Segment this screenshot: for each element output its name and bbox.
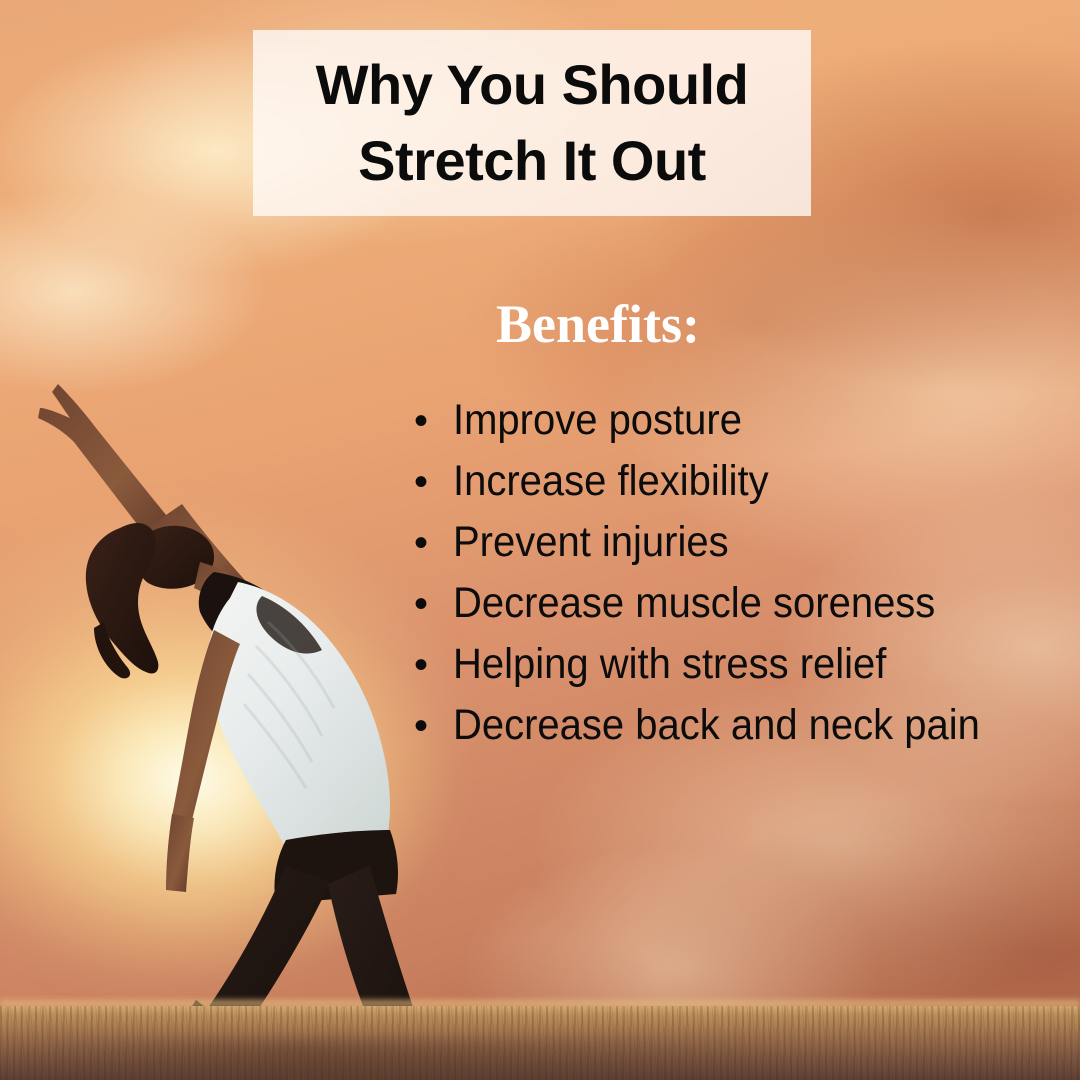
- benefit-label: Helping with stress relief: [453, 634, 886, 695]
- title-line-2: Stretch It Out: [358, 123, 706, 199]
- list-item: • Decrease muscle soreness: [414, 573, 1020, 634]
- bullet-icon: •: [414, 452, 453, 513]
- bullet-icon: •: [414, 391, 453, 452]
- ground-shadow: [0, 1040, 780, 1080]
- title-line-1: Why You Should: [316, 47, 749, 123]
- bullet-icon: •: [414, 635, 453, 696]
- bullet-icon: •: [414, 513, 453, 574]
- benefit-label: Decrease muscle soreness: [453, 573, 935, 634]
- poster-canvas: Why You Should Stretch It Out Benefits: …: [0, 0, 1080, 1080]
- list-item: • Helping with stress relief: [414, 634, 1020, 695]
- bullet-icon: •: [414, 696, 453, 757]
- benefit-label: Improve posture: [453, 390, 742, 451]
- bullet-icon: •: [414, 574, 453, 635]
- benefit-label: Decrease back and neck pain: [453, 695, 980, 756]
- benefit-label: Prevent injuries: [453, 512, 729, 573]
- list-item: • Improve posture: [414, 390, 1020, 451]
- benefit-label: Increase flexibility: [453, 451, 769, 512]
- title-banner: Why You Should Stretch It Out: [253, 30, 811, 216]
- benefits-list: • Improve posture • Increase flexibility…: [414, 390, 1020, 756]
- list-item: • Increase flexibility: [414, 451, 1020, 512]
- benefits-heading: Benefits:: [418, 296, 778, 352]
- list-item: • Decrease back and neck pain: [414, 695, 1020, 756]
- list-item: • Prevent injuries: [414, 512, 1020, 573]
